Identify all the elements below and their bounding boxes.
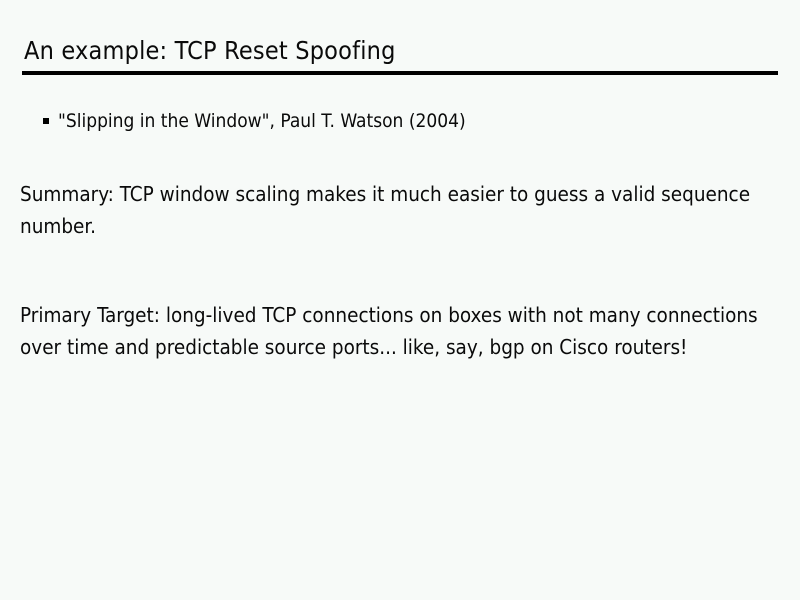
bullet-list: "Slipping in the Window", Paul T. Watson… <box>42 108 772 134</box>
title-underline-rule <box>22 71 778 75</box>
body-paragraph-summary: Summary: TCP window scaling makes it muc… <box>20 178 780 242</box>
square-bullet-icon <box>43 118 49 124</box>
body-paragraph-primary-target: Primary Target: long-lived TCP connectio… <box>20 299 780 363</box>
slide-body: Summary: TCP window scaling makes it muc… <box>20 178 780 363</box>
list-item: "Slipping in the Window", Paul T. Watson… <box>42 108 772 134</box>
slide-title: An example: TCP Reset Spoofing <box>24 36 780 66</box>
list-item-label: "Slipping in the Window", Paul T. Watson… <box>58 110 466 132</box>
presentation-slide: An example: TCP Reset Spoofing "Slipping… <box>0 0 800 600</box>
